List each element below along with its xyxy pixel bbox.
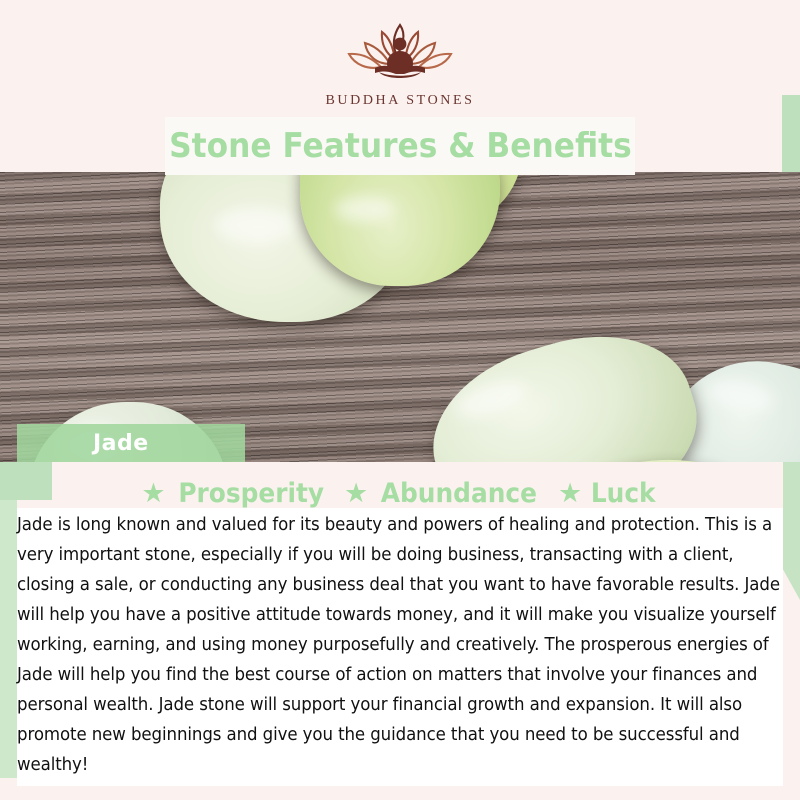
page-title: Stone Features & Benefits <box>169 126 632 166</box>
stone-name-badge: Jade <box>17 424 245 462</box>
brand-logo: BUDDHA STONES <box>0 18 800 109</box>
jade-stones-photo <box>0 172 800 462</box>
benefit-label: Luck <box>591 478 656 509</box>
benefit-label: Prosperity <box>178 478 324 509</box>
description-text: Jade is long known and valued for its be… <box>17 508 781 786</box>
stone-name-label: Jade <box>93 431 149 456</box>
benefits-row: ★ Prosperity ★ Abundance ★ Luck <box>0 478 800 509</box>
benefit-item-abundance: ★ Abundance <box>344 478 544 509</box>
benefit-label: Abundance <box>381 478 537 509</box>
lotus-meditation-icon <box>335 18 465 90</box>
benefit-item-prosperity: ★ Prosperity <box>141 478 330 509</box>
benefit-item-luck: ★ Luck <box>558 478 659 509</box>
accent-bar-left-text <box>0 500 17 800</box>
description-panel: Jade is long known and valued for its be… <box>17 508 783 786</box>
star-icon: ★ <box>344 480 368 507</box>
stone-info-card: BUDDHA STONES Stone Features & Benefits … <box>0 0 800 800</box>
title-banner: Stone Features & Benefits <box>165 117 635 175</box>
brand-wordmark: BUDDHA STONES <box>0 93 800 109</box>
star-icon: ★ <box>141 480 165 507</box>
star-icon: ★ <box>558 480 582 507</box>
